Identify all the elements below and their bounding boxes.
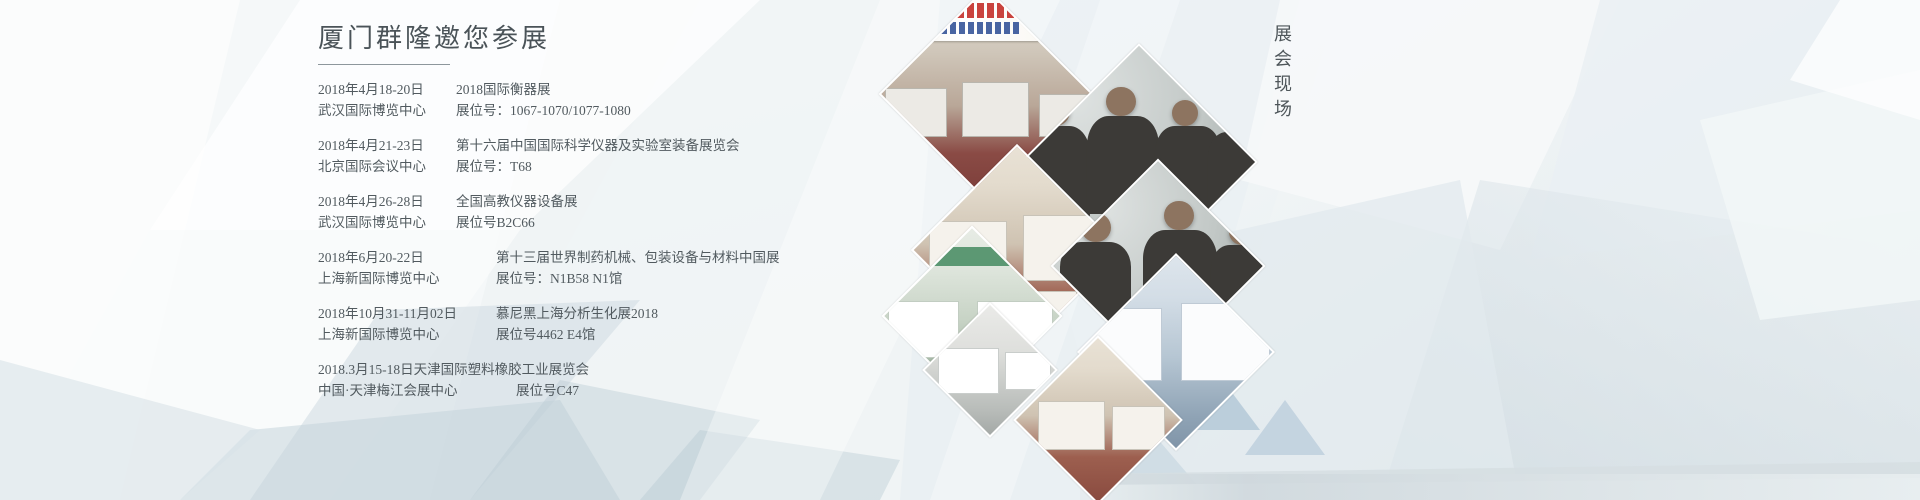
caption-char-3: 现 (1270, 72, 1298, 97)
caption-char-1: 展 (1270, 22, 1298, 47)
event-item-2: 2018年4月21-23日 第十六届中国国际科学仪器及实验室装备展览会 北京国际… (318, 135, 958, 177)
event-row-primary: 2018年4月18-20日 2018国际衡器展 (318, 79, 958, 100)
sign-red-text (887, 3, 1026, 18)
event-row-primary: 2018年4月26-28日 全国高教仪器设备展 (318, 191, 958, 212)
event-row-secondary: 武汉国际博览中心 展位号B2C66 (318, 212, 958, 233)
event-venue: 上海新国际博览中心 (318, 268, 480, 289)
event-name: 慕尼黑上海分析生化展2018 (480, 303, 658, 324)
exhibition-info-panel: 厦门群隆邀您参展 2018年4月18-20日 2018国际衡器展 武汉国际博览中… (318, 22, 958, 415)
shelf-1 (1038, 401, 1105, 449)
event-row-secondary: 中国·天津梅江会展中心 展位号C47 (318, 380, 958, 401)
event-date: 2018.3月15-18日天津国际塑料橡胶工业展览会 (318, 359, 589, 380)
event-row-primary: 2018年6月20-22日 第十三届世界制药机械、包装设备与材料中国展 (318, 247, 958, 268)
event-name: 全国高教仪器设备展 (440, 191, 578, 212)
event-booth: 展位号：1067-1070/1077-1080 (440, 100, 631, 121)
event-booth: 展位号C47 (516, 380, 579, 401)
booth-panel-2 (1181, 303, 1270, 381)
photo-collage (1020, 0, 1420, 500)
event-date: 2018年6月20-22日 (318, 247, 480, 268)
event-booth: 展位号：N1B58 N1馆 (480, 268, 622, 289)
event-venue: 武汉国际博览中心 (318, 212, 440, 233)
event-date: 2018年4月26-28日 (318, 191, 440, 212)
event-date: 2018年4月18-20日 (318, 79, 440, 100)
title-underline (318, 64, 450, 65)
event-booth: 展位号B2C66 (440, 212, 535, 233)
event-row-secondary: 武汉国际博览中心 展位号：1067-1070/1077-1080 (318, 100, 958, 121)
person-head-3 (1172, 100, 1198, 126)
event-name: 2018国际衡器展 (440, 79, 551, 100)
event-row-primary: 2018.3月15-18日天津国际塑料橡胶工业展览会 (318, 359, 958, 380)
device-2 (962, 82, 1029, 137)
event-item-4: 2018年6月20-22日 第十三届世界制药机械、包装设备与材料中国展 上海新国… (318, 247, 958, 289)
event-name: 第十六届中国国际科学仪器及实验室装备展览会 (440, 135, 740, 156)
event-date: 2018年4月21-23日 (318, 135, 440, 156)
event-item-6: 2018.3月15-18日天津国际塑料橡胶工业展览会 中国·天津梅江会展中心 展… (318, 359, 958, 401)
event-booth: 展位号4462 E4馆 (480, 324, 595, 345)
event-item-3: 2018年4月26-28日 全国高教仪器设备展 武汉国际博览中心 展位号B2C6… (318, 191, 958, 233)
exhibition-banner: 厦门群隆邀您参展 2018年4月18-20日 2018国际衡器展 武汉国际博览中… (0, 0, 1920, 500)
event-row-secondary: 上海新国际博览中心 展位号：N1B58 N1馆 (318, 268, 958, 289)
person-head-2 (1106, 87, 1136, 117)
shelf-2 (1112, 406, 1165, 450)
event-venue: 武汉国际博览中心 (318, 100, 440, 121)
event-item-1: 2018年4月18-20日 2018国际衡器展 武汉国际博览中心 展位号：106… (318, 79, 958, 121)
page-title: 厦门群隆邀您参展 (318, 22, 958, 62)
caption-char-4: 场 (1270, 97, 1298, 122)
event-item-5: 2018年10月31-11月02日 慕尼黑上海分析生化展2018 上海新国际博览… (318, 303, 958, 345)
caption-char-2: 会 (1270, 47, 1298, 72)
event-booth: 展位号：T68 (440, 156, 532, 177)
event-row-secondary: 北京国际会议中心 展位号：T68 (318, 156, 958, 177)
event-venue: 上海新国际博览中心 (318, 324, 480, 345)
collage-vertical-caption: 展 会 现 场 (1270, 22, 1298, 122)
person-head-2 (1164, 201, 1194, 231)
event-row-secondary: 上海新国际博览中心 展位号4462 E4馆 (318, 324, 958, 345)
event-venue: 中国·天津梅江会展中心 (318, 380, 516, 401)
person-head-4 (1224, 106, 1250, 132)
event-venue: 北京国际会议中心 (318, 156, 440, 177)
person-body-4 (1208, 132, 1258, 214)
event-row-primary: 2018年10月31-11月02日 慕尼黑上海分析生化展2018 (318, 303, 958, 324)
event-row-primary: 2018年4月21-23日 第十六届中国国际科学仪器及实验室装备展览会 (318, 135, 958, 156)
booth-panel-2 (1005, 352, 1051, 391)
event-date: 2018年10月31-11月02日 (318, 303, 480, 324)
event-name: 第十三届世界制药机械、包装设备与材料中国展 (480, 247, 780, 268)
person-head-3 (1229, 219, 1256, 246)
